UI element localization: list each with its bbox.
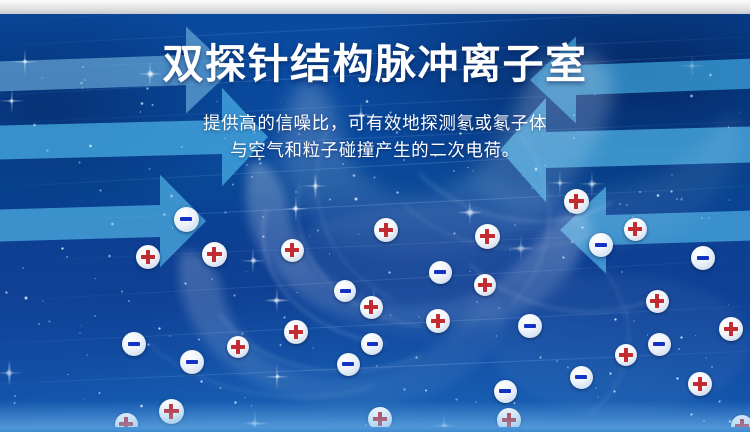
positive-ion-icon (374, 218, 398, 242)
bottom-accent-band (0, 427, 750, 432)
positive-ion-icon (475, 224, 500, 249)
minus-stroke (499, 389, 511, 393)
positive-ion-icon (474, 274, 496, 296)
minus-stroke (653, 342, 665, 346)
negative-ion-icon (518, 314, 542, 338)
plus-stroke-horizontal (650, 299, 664, 303)
negative-ion-icon (334, 280, 356, 302)
negative-ion-icon (494, 380, 517, 403)
plus-stroke-horizontal (619, 353, 632, 356)
positive-ion-icon (227, 336, 249, 358)
plus-stroke-horizontal (693, 382, 707, 386)
negative-ion-icon (589, 233, 613, 257)
positive-ion-icon (202, 242, 227, 267)
positive-ion-icon (646, 290, 669, 313)
product-banner: 双探针结构脉冲离子室 提供高的信噪比，可有效地探测氡或氡子体 与空气和粒子碰撞产… (0, 0, 750, 432)
subtitle-line-1: 提供高的信噪比，可有效地探测氡或氡子体 (0, 110, 750, 137)
negative-ion-icon (570, 366, 593, 389)
minus-stroke (180, 217, 193, 221)
minus-stroke (595, 243, 607, 247)
positive-ion-icon (688, 372, 712, 396)
negative-ion-icon (122, 332, 146, 356)
plus-stroke-horizontal (628, 227, 642, 231)
positive-ion-icon (426, 309, 450, 333)
plus-stroke-horizontal (480, 234, 495, 238)
plus-stroke-horizontal (569, 199, 584, 203)
plus-stroke-horizontal (364, 305, 378, 309)
negative-ion-icon (174, 207, 199, 232)
minus-stroke (128, 342, 140, 346)
minus-stroke (186, 360, 198, 364)
negative-ion-icon (180, 350, 204, 374)
positive-ion-icon (281, 239, 304, 262)
minus-stroke (524, 324, 536, 328)
minus-stroke (340, 289, 351, 293)
negative-ion-icon (361, 333, 383, 355)
plus-stroke-horizontal (285, 248, 299, 252)
positive-ion-icon (615, 344, 637, 366)
minus-stroke (434, 270, 446, 274)
positive-ion-icon (719, 317, 743, 341)
positive-ion-icon (136, 245, 160, 269)
negative-ion-icon (691, 246, 715, 270)
top-silver-bar (0, 0, 750, 14)
positive-ion-icon (284, 320, 308, 344)
minus-stroke (342, 362, 354, 366)
banner-title: 双探针结构脉冲离子室 (0, 40, 750, 88)
plus-stroke-horizontal (431, 319, 445, 323)
negative-ion-icon (337, 353, 360, 376)
positive-ion-icon (564, 189, 589, 214)
negative-ion-icon (648, 333, 671, 356)
plus-stroke-horizontal (141, 255, 155, 259)
plus-stroke-horizontal (724, 327, 738, 331)
plus-stroke-horizontal (478, 283, 491, 286)
minus-stroke (367, 342, 378, 346)
minus-stroke (697, 256, 709, 260)
positive-ion-icon (624, 218, 647, 241)
minus-stroke (575, 375, 587, 379)
plus-stroke-horizontal (379, 228, 393, 232)
bottom-glow (0, 401, 750, 427)
positive-ion-icon (360, 296, 383, 319)
plus-stroke-horizontal (231, 345, 244, 348)
plus-stroke-horizontal (289, 330, 303, 334)
plus-stroke-horizontal (207, 252, 222, 256)
subtitle-line-2: 与空气和粒子碰撞产生的二次电荷。 (0, 137, 750, 164)
banner-subtitle: 提供高的信噪比，可有效地探测氡或氡子体 与空气和粒子碰撞产生的二次电荷。 (0, 110, 750, 164)
negative-ion-icon (429, 261, 452, 284)
